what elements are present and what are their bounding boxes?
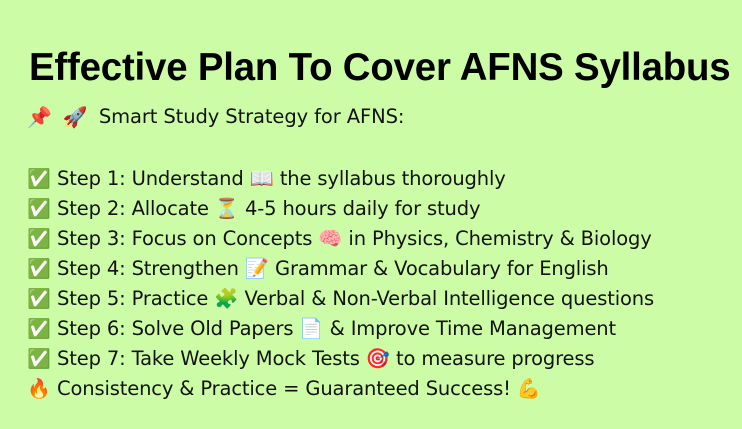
list-item: ✅ Step 7: Take Weekly Mock Tests 🎯 to me…: [27, 346, 737, 376]
list-item-text: Step 6: Solve Old Papers 📄 & Improve Tim…: [57, 316, 616, 342]
list-item: ✅ Step 1: Understand 📖 the syllabus thor…: [27, 166, 737, 196]
check-mark-icon: ✅: [27, 346, 57, 372]
check-mark-icon: ✅: [27, 226, 57, 252]
list-item-text: Step 7: Take Weekly Mock Tests 🎯 to meas…: [57, 346, 594, 372]
check-mark-icon: ✅: [27, 166, 57, 192]
list-item: ✅ Step 4: Strengthen 📝 Grammar & Vocabul…: [27, 256, 737, 286]
steps-list: ✅ Step 1: Understand 📖 the syllabus thor…: [27, 166, 737, 406]
list-item: ✅ Step 6: Solve Old Papers 📄 & Improve T…: [27, 316, 737, 346]
rocket-icon: 🚀: [63, 107, 88, 127]
fire-icon: 🔥: [27, 376, 57, 402]
list-item: ✅ Step 3: Focus on Concepts 🧠 in Physics…: [27, 226, 737, 256]
check-mark-icon: ✅: [27, 196, 57, 222]
page-title: Effective Plan To Cover AFNS Syllabus: [29, 44, 709, 92]
list-item-text: Step 4: Strengthen 📝 Grammar & Vocabular…: [57, 256, 609, 282]
list-item-text: Step 1: Understand 📖 the syllabus thorou…: [57, 166, 506, 192]
list-item-text: Step 3: Focus on Concepts 🧠 in Physics, …: [57, 226, 652, 252]
list-item: 🔥 Consistency & Practice = Guaranteed Su…: [27, 376, 737, 406]
list-item-text: Step 5: Practice 🧩 Verbal & Non-Verbal I…: [57, 286, 654, 312]
subtitle-text: Smart Study Strategy for AFNS:: [99, 105, 405, 129]
list-item-text: Consistency & Practice = Guaranteed Succ…: [57, 376, 541, 402]
list-item: ✅ Step 5: Practice 🧩 Verbal & Non-Verbal…: [27, 286, 737, 316]
list-item: ✅ Step 2: Allocate ⏳ 4-5 hours daily for…: [27, 196, 737, 226]
check-mark-icon: ✅: [27, 256, 57, 282]
poster-canvas: Effective Plan To Cover AFNS Syllabus 📌 …: [0, 0, 742, 429]
check-mark-icon: ✅: [27, 286, 57, 312]
check-mark-icon: ✅: [27, 316, 57, 342]
subtitle-row: 📌 🚀 Smart Study Strategy for AFNS:: [27, 102, 404, 132]
pushpin-icon: 📌: [27, 107, 52, 127]
list-item-text: Step 2: Allocate ⏳ 4-5 hours daily for s…: [57, 196, 480, 222]
